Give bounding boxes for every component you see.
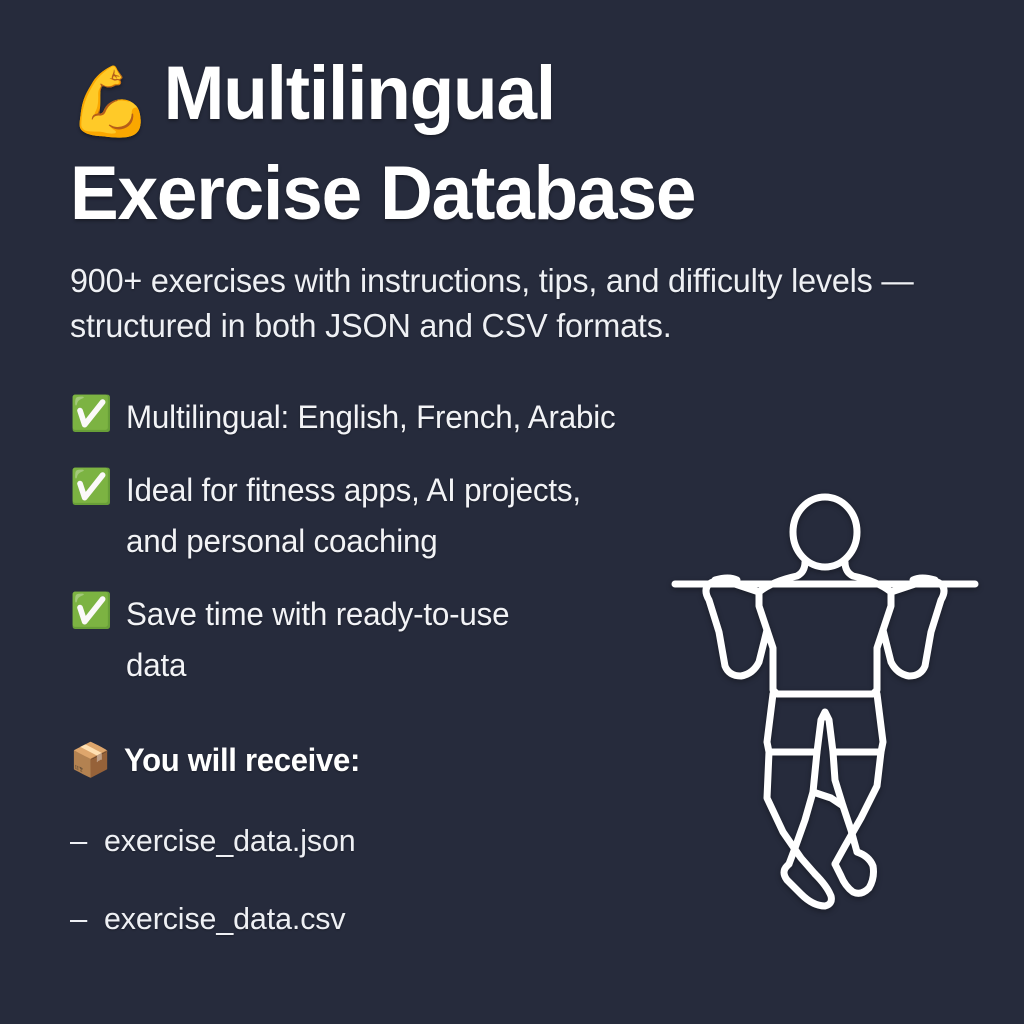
- receive-heading: 📦 You will receive:: [70, 738, 670, 782]
- figure-shorts: [767, 694, 883, 752]
- figure-left-leg: [767, 752, 815, 874]
- poster-canvas: 💪Multilingual Exercise Database 900+ exe…: [0, 0, 1024, 1024]
- figure-right-hand: [913, 578, 935, 580]
- list-item: – exercise_data.csv: [70, 898, 670, 940]
- figure-left-leg-inner: [789, 752, 817, 864]
- receive-section: 📦 You will receive: – exercise_data.json…: [70, 738, 670, 976]
- figure-right-leg-inner: [833, 752, 857, 852]
- page-subtitle: 900+ exercises with instructions, tips, …: [70, 258, 932, 348]
- check-mark-button-emoji: ✅: [70, 465, 112, 509]
- list-item: – exercise_data.json: [70, 820, 670, 862]
- package-emoji: 📦: [70, 738, 112, 782]
- list-item: ✅ Ideal for fitness apps, AI projects, a…: [70, 465, 770, 567]
- dash-bullet: –: [70, 898, 104, 940]
- flexed-biceps-emoji: 💪: [68, 56, 151, 148]
- file-name: exercise_data.csv: [104, 898, 345, 940]
- figure-left-foot: [784, 864, 831, 906]
- figure-right-arm: [883, 581, 944, 676]
- check-mark-button-emoji: ✅: [70, 392, 112, 436]
- page-title: 💪Multilingual Exercise Database: [70, 48, 857, 240]
- page-title-text: Multilingual Exercise Database: [70, 51, 695, 236]
- feature-text: Multilingual: English, French, Arabic: [126, 392, 757, 443]
- feature-list: ✅ Multilingual: English, French, Arabic …: [70, 392, 770, 713]
- figure-right-leg: [835, 752, 881, 864]
- feature-text: Save time with ready-to-use data: [126, 589, 757, 691]
- title-block: 💪Multilingual Exercise Database: [70, 48, 890, 240]
- list-item: ✅ Save time with ready-to-use data: [70, 589, 770, 691]
- receive-heading-text: You will receive:: [124, 738, 360, 782]
- figure-knee-detail: [813, 792, 843, 806]
- list-item: ✅ Multilingual: English, French, Arabic: [70, 392, 770, 443]
- figure-right-foot: [835, 852, 874, 893]
- check-mark-button-emoji: ✅: [70, 589, 112, 633]
- feature-text: Ideal for fitness apps, AI projects, and…: [126, 465, 757, 567]
- file-name: exercise_data.json: [104, 820, 356, 862]
- dash-bullet: –: [70, 820, 104, 862]
- figure-head: [793, 497, 857, 567]
- figure-torso: [759, 562, 891, 694]
